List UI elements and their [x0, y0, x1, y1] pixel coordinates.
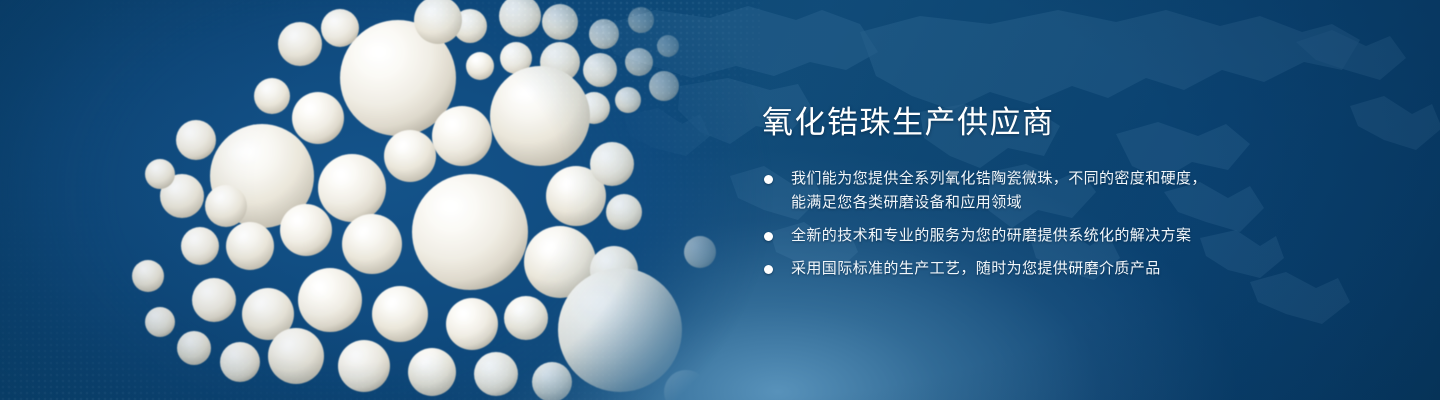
list-item-line: 能满足您各类研磨设备和应用领域: [791, 191, 1362, 215]
list-item-line: 我们能为您提供全系列氧化锆陶瓷微珠，不同的密度和硬度，: [791, 167, 1362, 191]
bullet-dot-icon: [764, 265, 773, 274]
list-item: 我们能为您提供全系列氧化锆陶瓷微珠，不同的密度和硬度， 能满足您各类研磨设备和应…: [762, 167, 1362, 215]
hero-banner: 氧化锆珠生产供应商 我们能为您提供全系列氧化锆陶瓷微珠，不同的密度和硬度， 能满…: [0, 0, 1440, 400]
bullet-dot-icon: [764, 175, 773, 184]
feature-list: 我们能为您提供全系列氧化锆陶瓷微珠，不同的密度和硬度， 能满足您各类研磨设备和应…: [762, 167, 1362, 281]
page-title: 氧化锆珠生产供应商: [762, 104, 1362, 143]
list-item-line: 全新的技术和专业的服务为您的研磨提供系统化的解决方案: [791, 224, 1362, 248]
list-item: 采用国际标准的生产工艺，随时为您提供研磨介质产品: [762, 257, 1362, 281]
banner-copy: 氧化锆珠生产供应商 我们能为您提供全系列氧化锆陶瓷微珠，不同的密度和硬度， 能满…: [762, 104, 1362, 281]
list-item: 全新的技术和专业的服务为您的研磨提供系统化的解决方案: [762, 224, 1362, 248]
bullet-dot-icon: [764, 232, 773, 241]
list-item-line: 采用国际标准的生产工艺，随时为您提供研磨介质产品: [791, 257, 1362, 281]
